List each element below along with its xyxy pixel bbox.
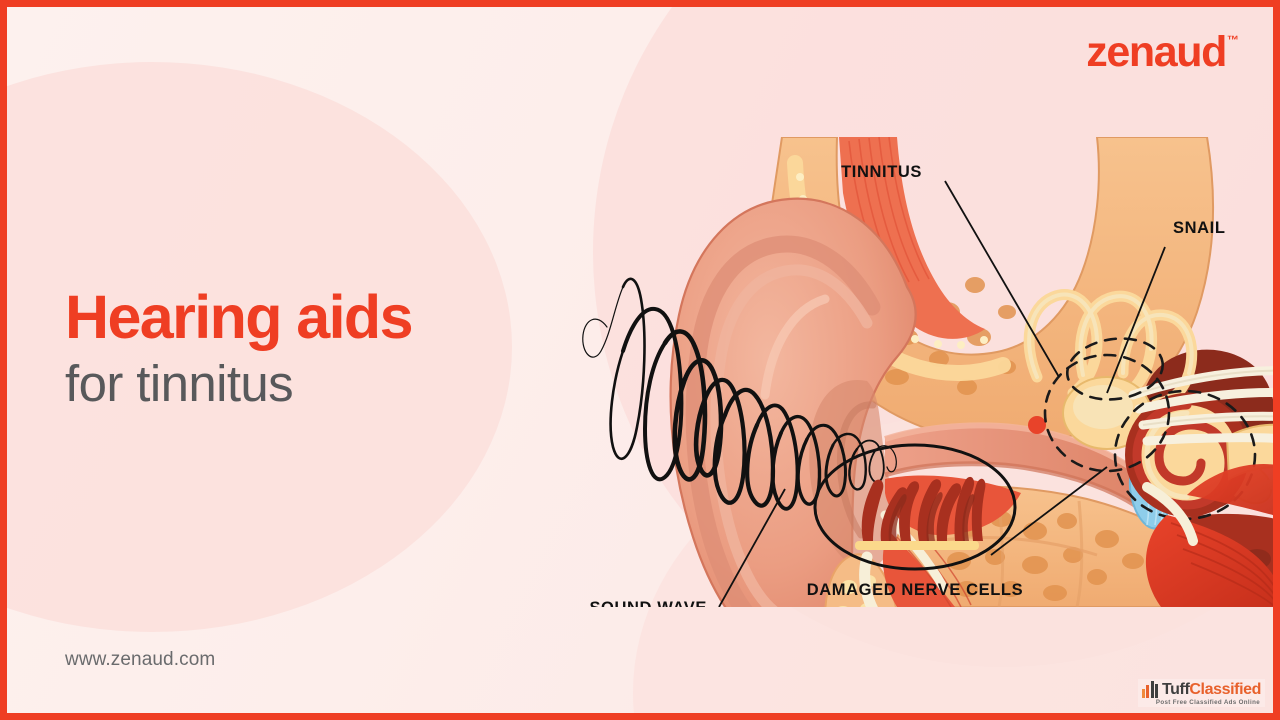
label-tinnitus: TINNITUS xyxy=(841,163,922,181)
label-damaged-nerve-cells: DAMAGED NERVE CELLS xyxy=(807,581,1023,599)
watermark-logo-row: TuffClassified xyxy=(1142,681,1261,698)
page-title: Hearing aids for tinnitus xyxy=(65,285,412,412)
brand-wordmark: zenaud xyxy=(1086,31,1226,74)
label-sound-wave: SOUND WAVE xyxy=(589,599,707,607)
trademark-symbol: ™ xyxy=(1227,34,1239,46)
headline-secondary: for tinnitus xyxy=(65,355,412,412)
brand-logo[interactable]: zenaud ™ xyxy=(1086,31,1239,74)
watermark-name-part2: Classified xyxy=(1189,681,1261,698)
label-snail: SNAIL xyxy=(1173,219,1226,237)
watermark-tagline: Post Free Classified Ads Online xyxy=(1156,699,1260,706)
poster-canvas: zenaud ™ Hearing aids for tinnitus www.z… xyxy=(0,0,1280,720)
headline-primary: Hearing aids xyxy=(65,285,412,349)
bar-chart-icon xyxy=(1142,681,1160,698)
watermark-name-part1: Tuff xyxy=(1162,681,1189,698)
website-url[interactable]: www.zenaud.com xyxy=(65,649,215,671)
tuffclassified-watermark[interactable]: TuffClassified Post Free Classified Ads … xyxy=(1138,679,1265,707)
ear-anatomy-illustration: TINNITUS SNAIL SOUND WAVE DAMAGED NERVE … xyxy=(567,137,1280,607)
